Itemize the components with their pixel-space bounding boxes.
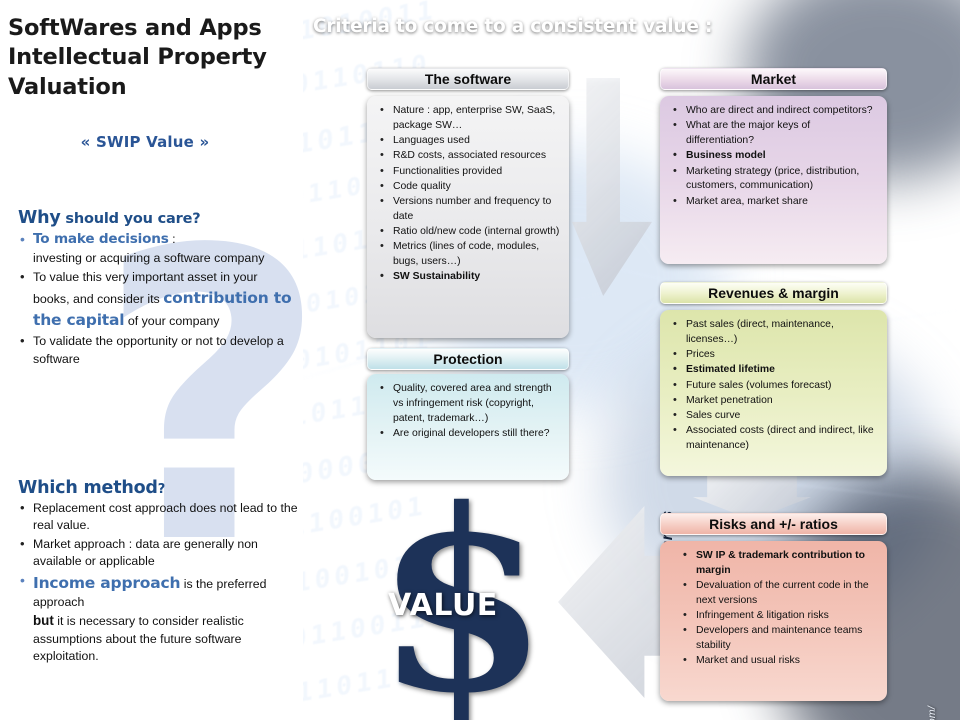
card-body-revenues: Past sales (direct, maintenance, license… (660, 310, 887, 476)
card-body-market: Who are direct and indirect competitors?… (660, 96, 887, 264)
list-item: To validate the opportunity or not to de… (18, 333, 293, 369)
list-item: Replacement cost approach does not lead … (18, 500, 300, 535)
card-list-revenues: Past sales (direct, maintenance, license… (664, 318, 879, 454)
list-item: Prices (664, 348, 879, 363)
card-body-protection: Quality, covered area and strength vs in… (367, 374, 569, 480)
section-why-heading-strong: Why (18, 208, 61, 228)
list-item: Code quality (371, 180, 561, 195)
list-item: Who are direct and indirect competitors? (664, 104, 879, 119)
list-item: Market penetration (664, 394, 879, 409)
list-item: Past sales (direct, maintenance, license… (664, 318, 879, 348)
list-item: Quality, covered area and strength vs in… (371, 382, 561, 426)
list-item: Devaluation of the current code in the n… (674, 579, 879, 609)
list-item: Market and usual risks (674, 654, 879, 669)
right-diagram-panel: 1011010 0110100 1101001 1010110 0101101 … (303, 0, 960, 720)
which-item-2-text: Market approach : data are generally non… (33, 537, 258, 568)
card-header-risks: Risks and +/- ratios (660, 513, 887, 535)
card-list-software: Nature : app, enterprise SW, SaaS, packa… (371, 104, 561, 285)
list-item: To make decisions : investing or acquiri… (18, 230, 293, 268)
which-item-3-highlight: Income approach (33, 574, 180, 592)
section-why-list: To make decisions : investing or acquiri… (18, 230, 293, 369)
list-item: Ratio old/new code (internal growth) (371, 225, 561, 240)
section-which-list: Replacement cost approach does not lead … (18, 500, 300, 666)
page-title-line-3: Valuation (8, 73, 298, 102)
card-header-protection: Protection (367, 348, 569, 370)
list-item: Income approach is the preferred approac… (18, 572, 300, 666)
card-body-risks: SW IP & trademark contribution to margin… (660, 541, 887, 701)
copyright-notice: © Sylvie GAMET 2015 - http://sylvie-game… (926, 706, 938, 720)
list-item: Estimated lifetime (664, 363, 879, 378)
card-title-protection: Protection (433, 351, 502, 367)
card-body-software: Nature : app, enterprise SW, SaaS, packa… (367, 96, 569, 338)
list-item: SW IP & trademark contribution to margin (674, 549, 879, 579)
list-item: Future sales (volumes forecast) (664, 379, 879, 394)
section-why: Why should you care? To make decisions :… (18, 208, 293, 370)
list-item: Sales curve (664, 409, 879, 424)
list-item: Business model (664, 149, 879, 164)
card-title-risks: Risks and +/- ratios (709, 516, 838, 532)
why-item-1-text: : (169, 232, 176, 246)
card-list-risks: SW IP & trademark contribution to margin… (674, 549, 879, 669)
card-title-market: Market (751, 71, 796, 87)
value-label: VALUE (388, 588, 498, 623)
subtitle: « SWIP Value » (0, 133, 290, 151)
list-item: Marketing strategy (price, distribution,… (664, 165, 879, 195)
which-item-1-text: Replacement cost approach does not lead … (33, 501, 298, 532)
list-item: Are original developers still there? (371, 427, 561, 442)
section-which-heading-mark: ? (158, 482, 165, 497)
section-which-heading: Which method? (18, 478, 300, 498)
slide-root: ? SoftWares and Apps Intellectual Proper… (0, 0, 960, 720)
card-header-revenues: Revenues & margin (660, 282, 887, 304)
list-item: Market approach : data are generally non… (18, 536, 300, 571)
panel-title: Criteria to come to a consistent value : (313, 16, 712, 37)
why-item-1-cont: investing or acquiring a software compan… (33, 251, 264, 265)
list-item: Developers and maintenance teams stabili… (674, 624, 879, 654)
card-header-software: The software (367, 68, 569, 90)
section-why-heading: Why should you care? (18, 208, 293, 228)
why-item-1-highlight: To make decisions (33, 231, 169, 247)
section-which-method: Which method? Replacement cost approach … (18, 478, 300, 667)
page-title: SoftWares and Apps Intellectual Property… (8, 14, 298, 102)
list-item: Languages used (371, 134, 561, 149)
which-item-3-tail: it is necessary to consider realistic as… (33, 614, 244, 663)
card-title-software: The software (425, 71, 511, 87)
list-item: What are the major keys of differentiati… (664, 119, 879, 149)
list-item: SW Sustainability (371, 270, 561, 285)
why-item-2-tail: of your company (124, 314, 219, 328)
list-item: Infringement & litigation risks (674, 609, 879, 624)
page-title-line-1: SoftWares and Apps (8, 14, 298, 43)
list-item: Nature : app, enterprise SW, SaaS, packa… (371, 104, 561, 134)
left-text-panel: ? SoftWares and Apps Intellectual Proper… (0, 0, 303, 720)
list-item: R&D costs, associated resources (371, 149, 561, 164)
list-item: Associated costs (direct and indirect, l… (664, 424, 879, 454)
card-list-protection: Quality, covered area and strength vs in… (371, 382, 561, 442)
card-list-market: Who are direct and indirect competitors?… (664, 104, 879, 209)
card-header-market: Market (660, 68, 887, 90)
list-item: Market area, market share (664, 195, 879, 210)
section-which-heading-strong: Which method (18, 478, 158, 498)
why-item-3-text: To validate the opportunity or not to de… (33, 334, 284, 366)
list-item: Functionalities provided (371, 165, 561, 180)
page-title-line-2: Intellectual Property (8, 43, 298, 72)
list-item: Versions number and frequency to date (371, 195, 561, 225)
which-item-3-but: but (33, 613, 54, 628)
card-title-revenues: Revenues & margin (708, 285, 839, 301)
list-item: Metrics (lines of code, modules, bugs, u… (371, 240, 561, 270)
list-item: To value this very important asset in yo… (18, 269, 293, 332)
section-why-heading-rest: should you care? (61, 211, 201, 227)
